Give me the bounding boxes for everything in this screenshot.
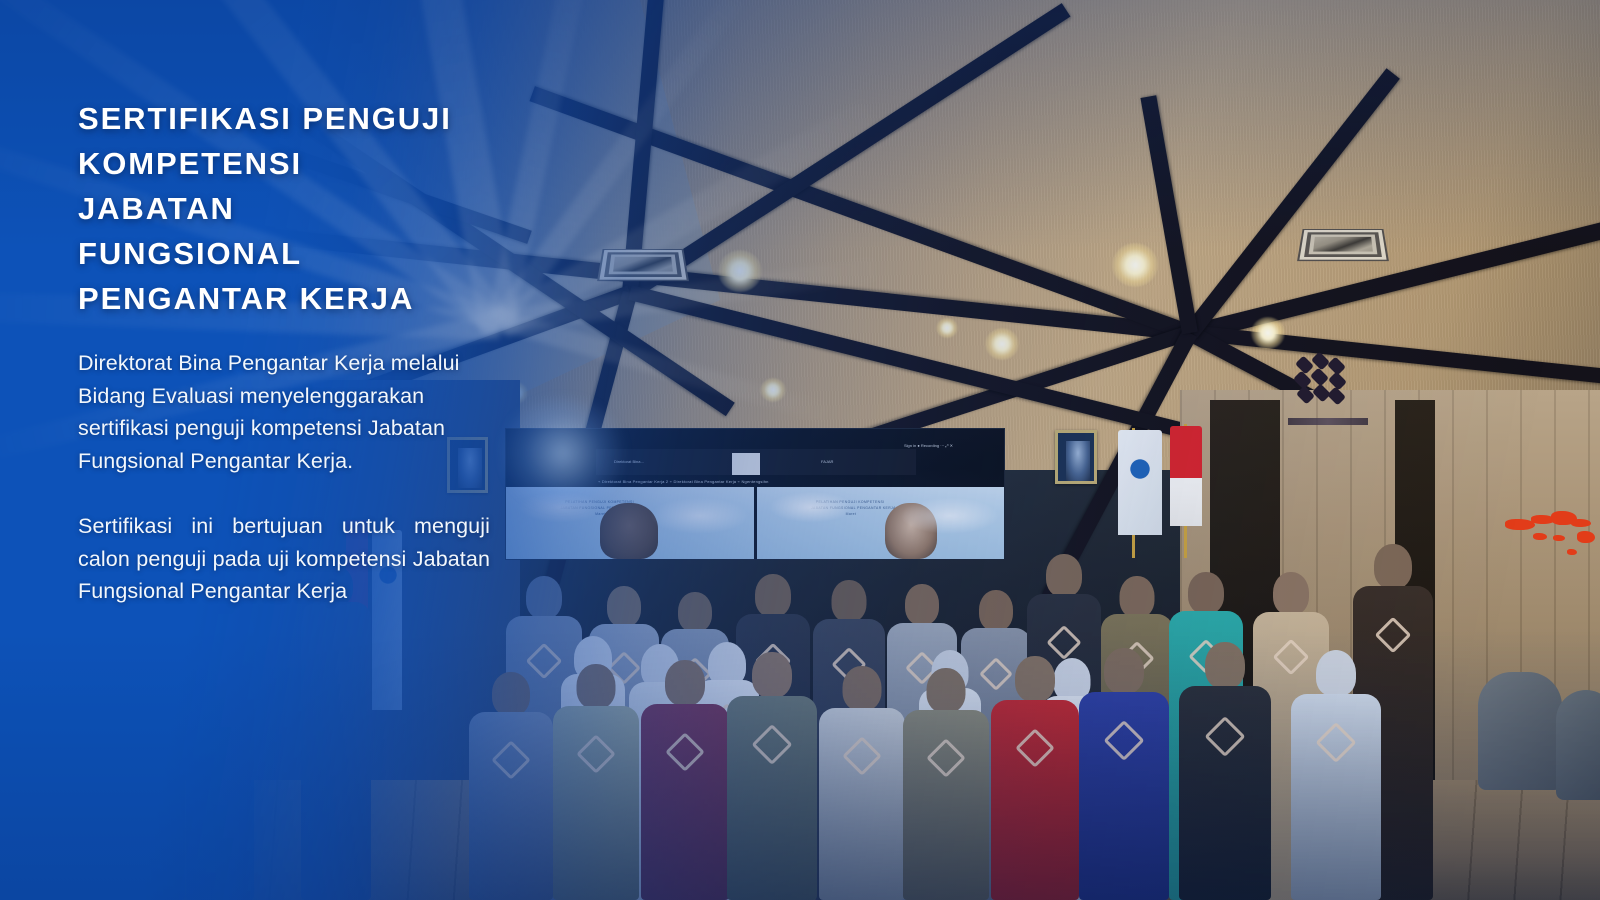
presentation-slide: Direktorat Bina… FAJAR ⌁ Direktorat Bina… [0,0,1600,900]
headline-line-2: KOMPETENSI [78,141,490,186]
slide-content: SERTIFIKASI PENGUJI KOMPETENSI JABATAN F… [78,96,490,608]
body-paragraph-1: Direktorat Bina Pengantar Kerja melalui … [78,347,490,477]
body-paragraph-2: Sertifikasi ini bertujuan untuk menguji … [78,510,490,608]
headline-line-5: PENGANTAR KERJA [78,276,490,321]
headline-line-4: FUNGSIONAL [78,231,490,276]
headline-line-1: SERTIFIKASI PENGUJI [78,96,490,141]
page-title: SERTIFIKASI PENGUJI KOMPETENSI JABATAN F… [78,96,490,321]
headline-line-3: JABATAN [78,186,490,231]
light-glow-decoration [498,398,628,508]
